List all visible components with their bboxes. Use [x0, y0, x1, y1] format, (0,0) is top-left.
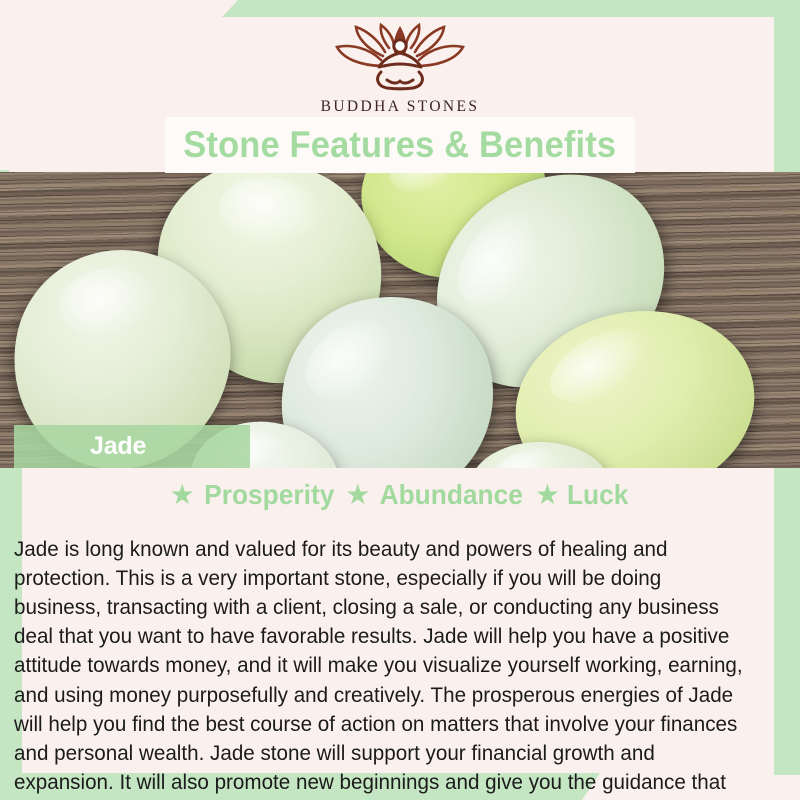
brand-logo: BUDDHA STONES [0, 22, 800, 116]
stone-name-band: Jade [14, 425, 250, 468]
benefit-label: Luck [567, 479, 628, 511]
star-icon: ★ [345, 481, 370, 509]
benefit-item: ★ Abundance [345, 479, 528, 511]
decorative-green-top-right [222, 0, 800, 17]
title-banner: Stone Features & Benefits [165, 117, 635, 173]
stone-info-card: BUDDHA STONES Stone Features & Benefits … [0, 0, 800, 800]
lotus-meditation-icon [325, 22, 475, 94]
brand-name: BUDDHA STONES [0, 98, 800, 116]
stone-photo [0, 172, 800, 468]
benefits-row: ★ Prosperity ★ Abundance ★ Luck [0, 479, 800, 511]
benefit-item: ★ Luck [535, 479, 630, 511]
benefit-label: Abundance [380, 479, 523, 511]
stone-description: Jade is long known and valued for its be… [14, 534, 751, 800]
benefit-item: ★ Prosperity [170, 479, 339, 511]
star-icon: ★ [535, 481, 560, 509]
stone-name: Jade [90, 432, 146, 461]
page-title: Stone Features & Benefits [184, 124, 617, 166]
benefit-label: Prosperity [204, 479, 334, 511]
star-icon: ★ [170, 481, 195, 509]
